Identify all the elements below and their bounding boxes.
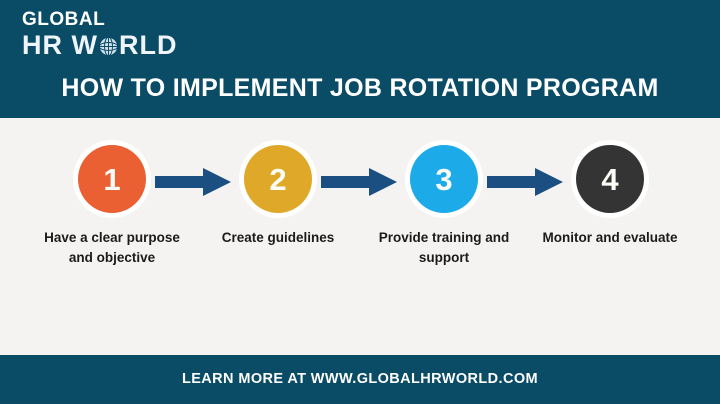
step-3-number: 3 [435,164,452,195]
brand-logo-line-1: GLOBAL [22,10,177,29]
brand-logo-text-before: HR W [22,30,98,60]
step-2-label: Create guidelines [198,228,358,248]
step-3-label: Provide training and support [364,228,524,269]
step-3-circle: 3 [410,145,478,213]
step-4-label: Monitor and evaluate [530,228,690,248]
step-2-circle: 2 [244,145,312,213]
brand-logo-line-2: HR WRLD [22,32,177,59]
footer-band: LEARN MORE AT WWW.GLOBALHRWORLD.COM [0,355,720,404]
page-title: HOW TO IMPLEMENT JOB ROTATION PROGRAM [0,74,720,103]
step-1-number: 1 [103,164,120,195]
globe-icon [98,35,119,56]
infographic-canvas: GLOBAL HR WRLD HOW TO IMPLEMENT JOB ROTA… [0,0,720,404]
footer-call-to-action: LEARN MORE AT WWW.GLOBALHRWORLD.COM [0,371,720,387]
step-4-number: 4 [601,164,618,195]
process-step-3: 3 Provide training and support [364,140,524,269]
process-step-4: 4 Monitor and evaluate [530,140,690,248]
step-1-label: Have a clear purpose and objective [32,228,192,269]
step-2-number: 2 [269,164,286,195]
step-1-circle: 1 [78,145,146,213]
step-4-circle: 4 [576,145,644,213]
process-steps-row: 1 Have a clear purpose and objective 2 [0,118,720,355]
process-step-1: 1 Have a clear purpose and objective [32,140,192,269]
brand-logo-text-after: RLD [119,30,178,60]
process-content-area: 1 Have a clear purpose and objective 2 [0,118,720,355]
header-band: GLOBAL HR WRLD HOW TO IMPLEMENT JOB ROTA… [0,0,720,118]
step-4-circle-wrap: 4 [530,140,690,218]
brand-logo: GLOBAL HR WRLD [22,10,177,59]
